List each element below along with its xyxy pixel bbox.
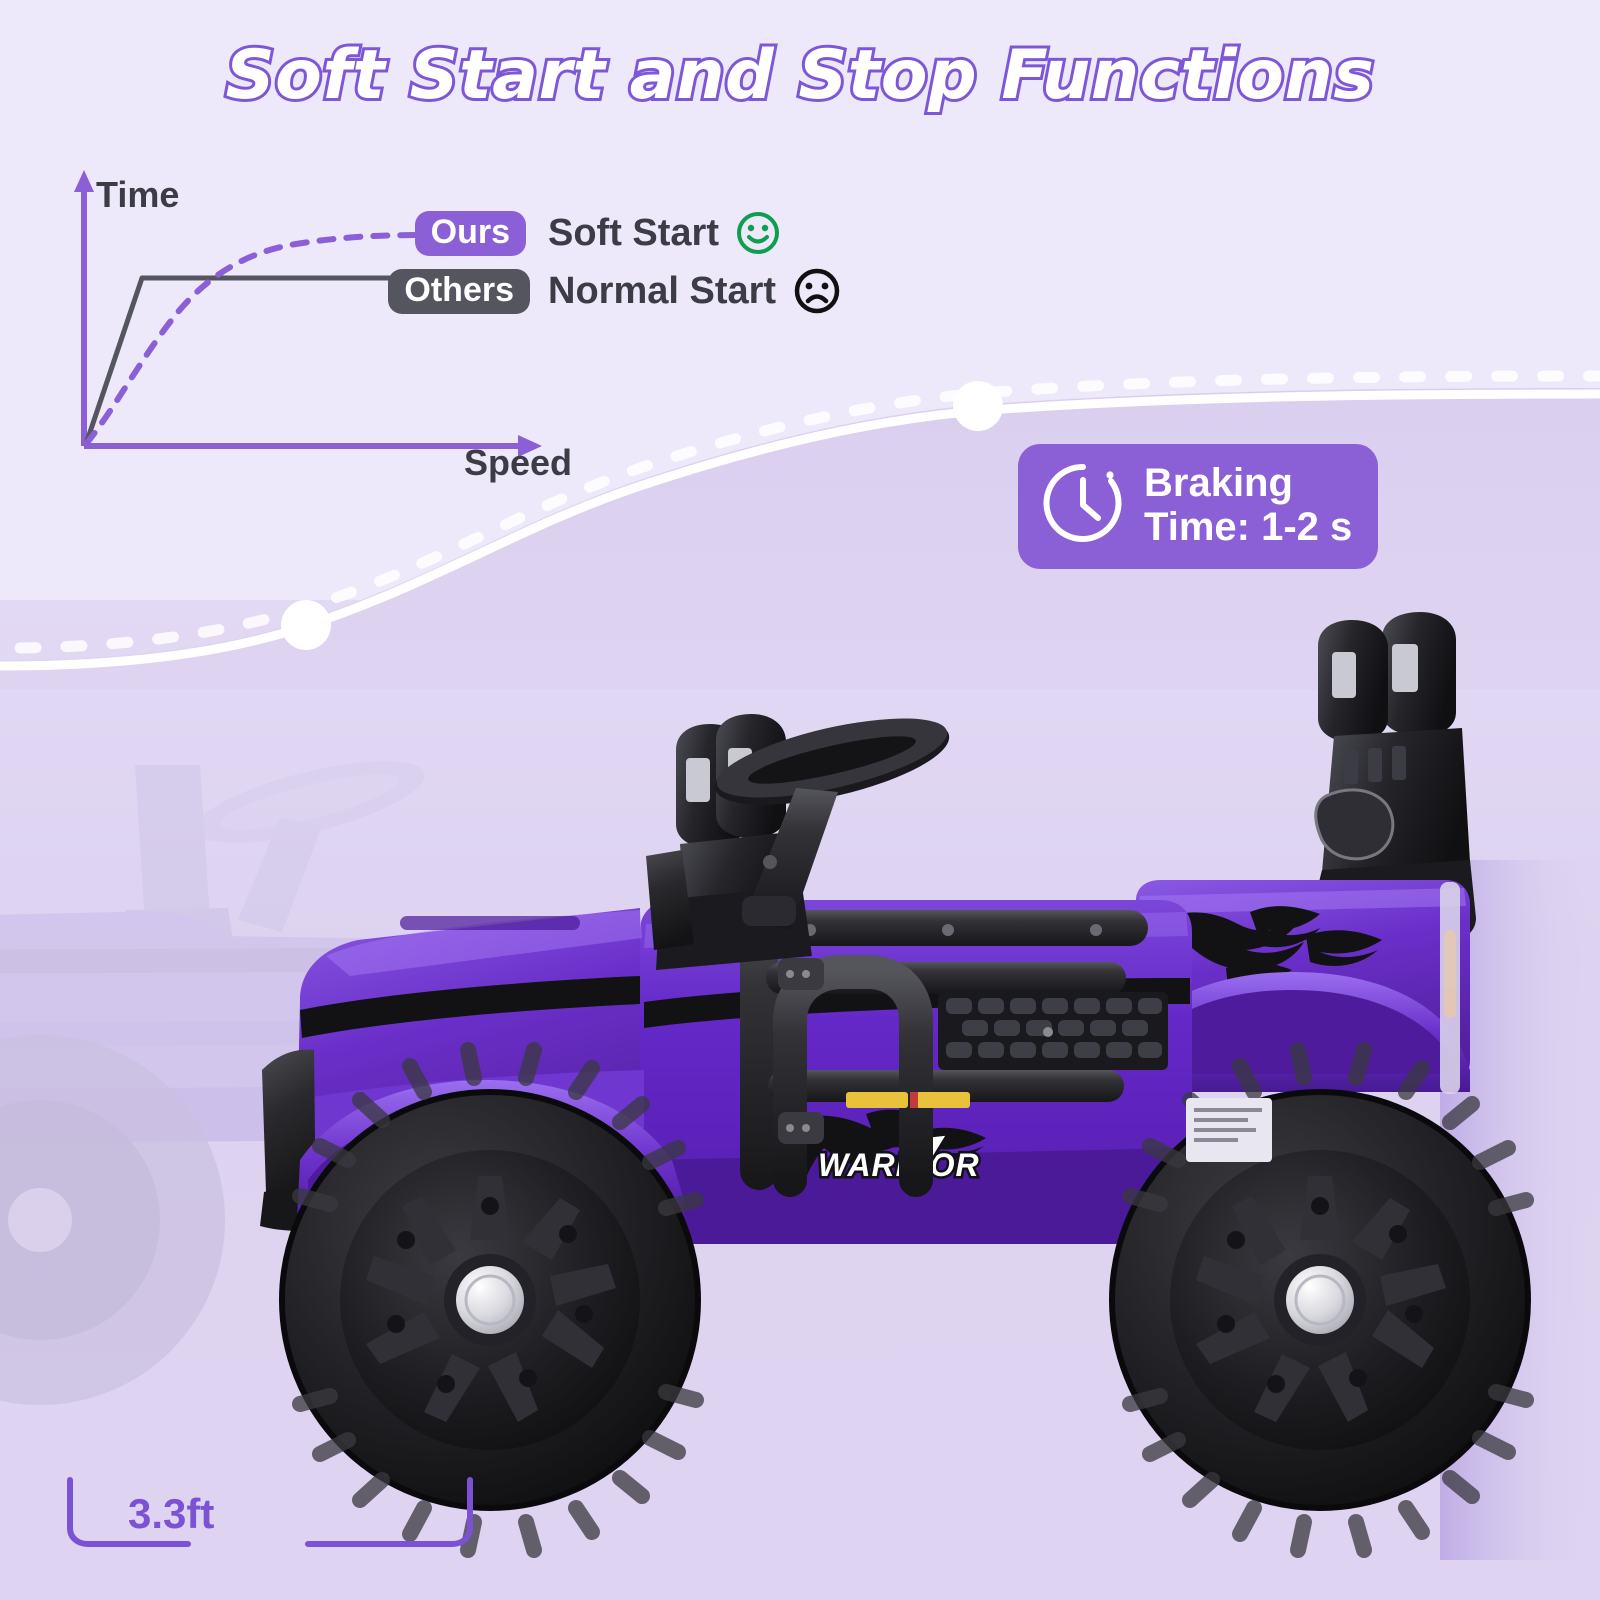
happy-face-icon	[735, 210, 781, 256]
legend-row-others: Others Normal Start	[382, 264, 842, 318]
ride-on-truck: WARRIOR	[0, 600, 1600, 1600]
braking-line-1: Braking	[1144, 461, 1293, 505]
battery-label	[1186, 1098, 1272, 1162]
page-title: Soft Start and Stop Functions	[0, 36, 1600, 115]
chart-y-axis	[74, 170, 94, 446]
braking-time-badge: Braking Time: 1-2 s	[1018, 444, 1378, 569]
legend-label-soft-start: Soft Start	[548, 212, 719, 255]
legend-badge-ours: Ours	[415, 211, 526, 256]
legend-badge-cell-others: Others	[382, 269, 530, 314]
dimension-bracket	[60, 1476, 480, 1586]
legend-badge-others: Others	[388, 269, 530, 314]
sad-face-icon	[792, 266, 842, 316]
image-canvas: WARRIOR	[0, 0, 1600, 1600]
road-dot-end	[953, 381, 1003, 431]
chart-legend: Ours Soft Start Others Normal Start	[382, 206, 842, 318]
warrior-decal-text: WARRIOR	[818, 1147, 980, 1183]
clock-icon	[1040, 460, 1126, 551]
braking-time-text: Braking Time: 1-2 s	[1144, 462, 1352, 548]
chart-axis-label-speed: Speed	[464, 442, 572, 484]
legend-row-ours: Ours Soft Start	[382, 206, 842, 260]
chart-series-ours	[86, 235, 428, 444]
legend-badge-cell-ours: Ours	[382, 211, 530, 256]
braking-line-2: Time: 1-2 s	[1144, 505, 1352, 549]
chart-series-others	[86, 278, 428, 444]
chart-axis-label-time: Time	[96, 174, 179, 216]
grille-mesh	[938, 992, 1168, 1070]
legend-label-normal-start: Normal Start	[548, 270, 776, 313]
dimension-value: 3.3ft	[128, 1490, 214, 1538]
